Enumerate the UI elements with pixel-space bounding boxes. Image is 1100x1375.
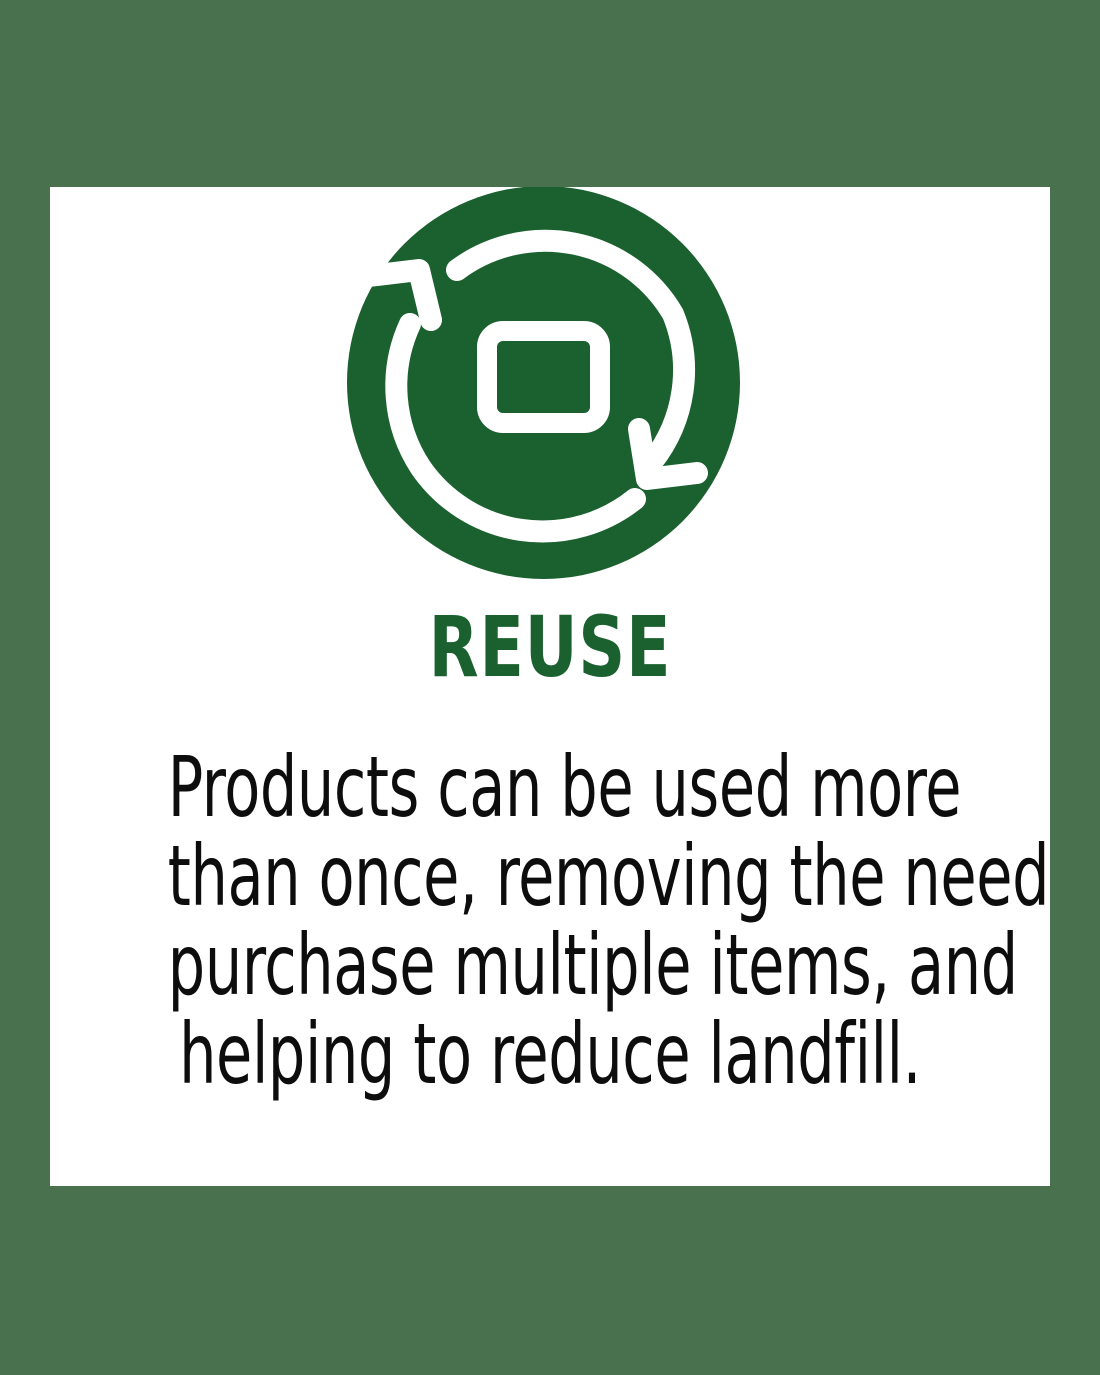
page-title: REUSE — [120, 605, 980, 689]
body-description: Products can be used more than once, rem… — [60, 743, 1040, 1099]
infographic-canvas: REUSE Products can be used more than onc… — [0, 0, 1100, 1375]
body-line: purchase multiple items, and — [168, 921, 932, 1010]
body-line: than once, removing the need to — [168, 832, 932, 921]
body-line: helping to reduce landfill. — [168, 1010, 932, 1099]
reuse-info-card: REUSE Products can be used more than onc… — [50, 187, 1050, 1186]
body-line: Products can be used more — [168, 743, 932, 832]
reuse-cycle-icon — [347, 187, 740, 579]
reuse-cycle-icon-svg — [347, 187, 740, 579]
